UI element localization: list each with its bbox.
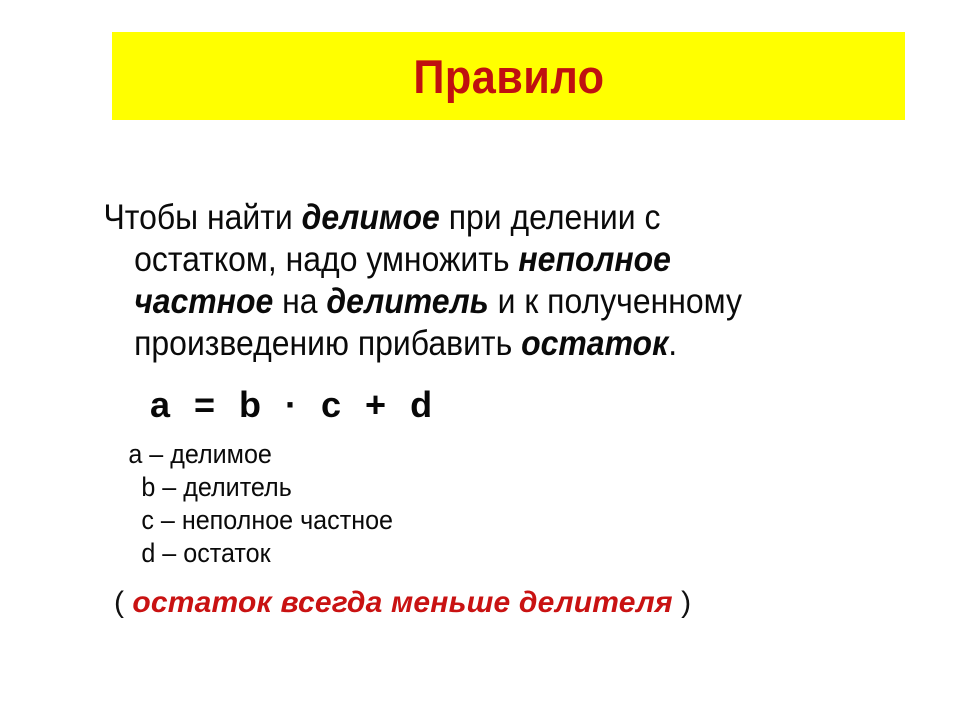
- rule-line-4: произведению прибавить остаток.: [104, 322, 811, 364]
- slide-root: { "slide": { "title": "Правило", "title_…: [0, 0, 960, 720]
- legend-item-c: c – неполное частное: [0, 504, 893, 537]
- rule-line-2: остатком, надо умножить неполное: [104, 238, 811, 280]
- legend-item-d: d – остаток: [0, 537, 893, 570]
- rule-line-1: Чтобы найти делимое при делении с: [104, 196, 811, 238]
- legend-list: a – делимое b – делитель c – неполное ча…: [0, 428, 960, 570]
- term-delimoe: делимое: [302, 197, 440, 237]
- note-close-paren: ): [673, 586, 691, 619]
- rule-line-1-text-b: при делении с: [440, 197, 661, 237]
- term-ostatok: остаток: [521, 323, 668, 363]
- note-text: остаток всегда меньше делителя: [132, 586, 672, 619]
- rule-line-4-text-a: произведению прибавить: [134, 323, 521, 363]
- rule-line-3: частное на делитель и к полученному: [104, 280, 811, 322]
- title-banner: Правило: [112, 32, 905, 120]
- term-nepolnoe: неполное: [518, 239, 671, 279]
- term-chastnoe: частное: [134, 281, 273, 321]
- page-title: Правило: [413, 53, 604, 100]
- rule-line-2-text-a: остатком, надо умножить: [134, 239, 518, 279]
- rule-line-1-text-a: Чтобы найти: [104, 197, 302, 237]
- formula: a = b · c + d: [0, 364, 960, 428]
- rule-line-4-text-b: .: [668, 323, 677, 363]
- legend-item-a: a – делимое: [0, 438, 893, 471]
- rule-paragraph: Чтобы найти делимое при делении с остатк…: [0, 196, 864, 364]
- slide-body: Чтобы найти делимое при делении с остатк…: [0, 196, 960, 622]
- rule-line-3-text-a: на: [273, 281, 326, 321]
- rule-line-3-text-b: и к полученному: [489, 281, 742, 321]
- legend-item-b: b – делитель: [0, 471, 893, 504]
- note-line: ( остаток всегда меньше делителя ): [0, 570, 960, 622]
- note-open-paren: (: [114, 586, 132, 619]
- term-delitel: делитель: [326, 281, 488, 321]
